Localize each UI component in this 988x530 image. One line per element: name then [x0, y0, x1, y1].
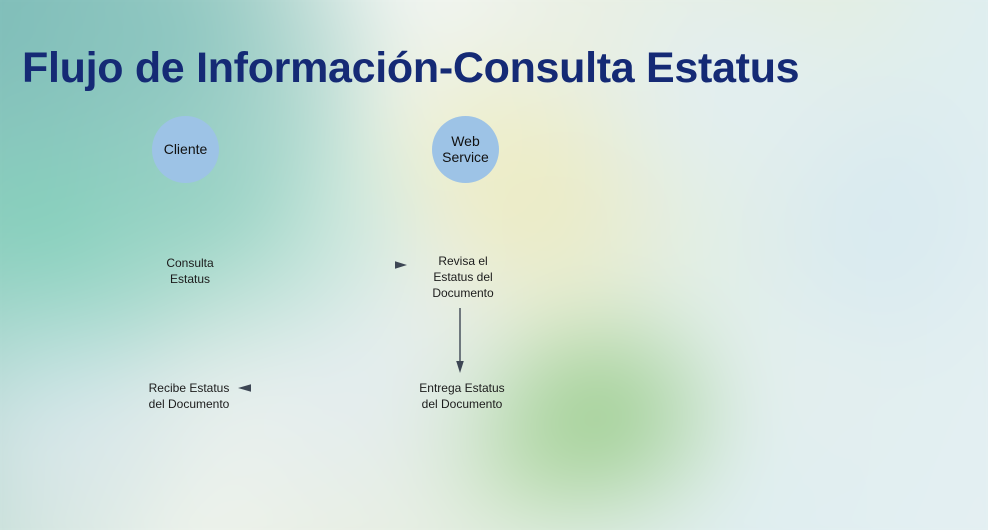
- actor-circle-cliente[interactable]: Cliente: [152, 116, 219, 183]
- actor-label-line: Service: [442, 150, 489, 166]
- arrow-right-cliente-to-web-service: [240, 258, 408, 272]
- step-label-consulta-estatus: Consulta Estatus: [132, 256, 248, 288]
- step-line: del Documento: [392, 397, 532, 413]
- actor-label-line: Web: [442, 134, 489, 150]
- actor-label-line: Cliente: [164, 142, 208, 158]
- step-line: Entrega Estatus: [392, 381, 532, 397]
- step-line: del Documento: [119, 397, 259, 413]
- arrow-down-web-service-internal: [452, 308, 468, 374]
- step-line: Estatus del: [398, 270, 528, 286]
- actor-circle-web-service[interactable]: Web Service: [432, 116, 499, 183]
- arrow-left-web-service-to-cliente: [238, 381, 408, 395]
- step-label-revisa-estatus: Revisa el Estatus del Documento: [398, 254, 528, 301]
- page-title: Flujo de Información-Consulta Estatus: [22, 44, 799, 93]
- step-line: Documento: [398, 286, 528, 302]
- step-label-entrega-estatus: Entrega Estatus del Documento: [392, 381, 532, 413]
- step-line: Estatus: [132, 272, 248, 288]
- step-line: Consulta: [132, 256, 248, 272]
- actor-label-web-service: Web Service: [442, 134, 489, 165]
- step-line: Revisa el: [398, 254, 528, 270]
- actor-label-cliente: Cliente: [164, 142, 208, 158]
- slide-canvas: Flujo de Información-Consulta Estatus Cl…: [0, 0, 988, 530]
